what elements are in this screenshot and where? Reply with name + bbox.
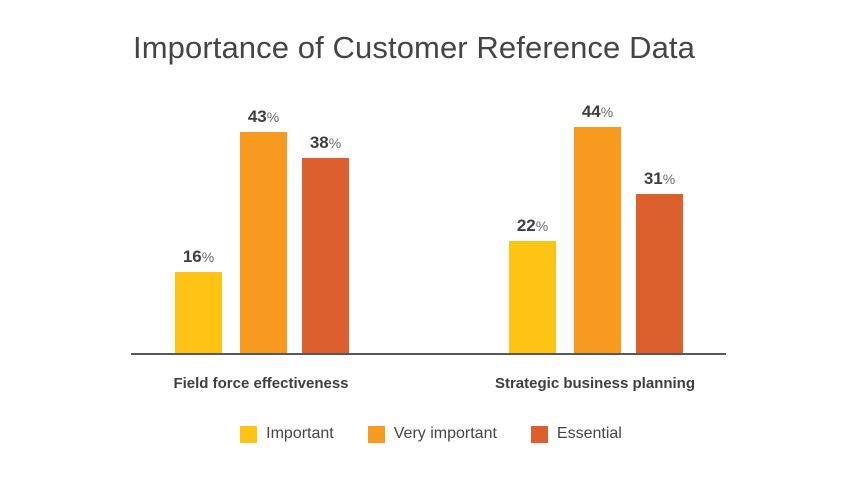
category-label-field-force-effectiveness: Field force effectiveness [131, 375, 391, 392]
legend-label: Very important [394, 425, 497, 443]
bar-very-important[interactable] [574, 127, 621, 355]
plot-area: 16% 43% 38% 22% 44% 31% [131, 90, 726, 355]
bar-very-important[interactable] [240, 132, 287, 355]
bar-value-label: 31% [644, 170, 675, 187]
legend-item-important[interactable]: Important [240, 425, 334, 443]
bar-value-number: 31 [644, 169, 663, 188]
bar-chart: Importance of Customer Reference Data 16… [0, 0, 862, 491]
bar-value-number: 16 [183, 247, 202, 266]
bar-important[interactable] [175, 272, 222, 355]
bar-value-number: 44 [582, 102, 601, 121]
bar-essential[interactable] [302, 158, 349, 355]
bar-group-field-force-effectiveness: 16% 43% 38% [175, 90, 350, 355]
bar-group-strategic-business-planning: 22% 44% 31% [509, 90, 684, 355]
category-label-strategic-business-planning: Strategic business planning [465, 375, 725, 392]
bar-value-number: 43 [248, 107, 267, 126]
legend-item-essential[interactable]: Essential [531, 425, 622, 443]
legend-label: Essential [557, 425, 622, 443]
percent-sign: % [202, 249, 214, 265]
bar-value-label: 44% [582, 103, 613, 120]
legend-item-very-important[interactable]: Very important [368, 425, 497, 443]
percent-sign: % [536, 218, 548, 234]
chart-title: Importance of Customer Reference Data [133, 30, 695, 66]
legend-label: Important [266, 425, 334, 443]
percent-sign: % [663, 171, 675, 187]
legend-swatch-icon [240, 426, 257, 443]
legend-swatch-icon [368, 426, 385, 443]
percent-sign: % [267, 109, 279, 125]
chart-legend: Important Very important Essential [0, 425, 862, 443]
bar-value-label: 16% [183, 248, 214, 265]
legend-swatch-icon [531, 426, 548, 443]
bar-value-label: 38% [310, 134, 341, 151]
x-axis-baseline [131, 353, 726, 355]
bar-value-number: 22 [517, 216, 536, 235]
percent-sign: % [601, 104, 613, 120]
bar-value-label: 22% [517, 217, 548, 234]
bar-value-label: 43% [248, 108, 279, 125]
bar-value-number: 38 [310, 133, 329, 152]
bar-important[interactable] [509, 241, 556, 355]
percent-sign: % [329, 135, 341, 151]
bar-essential[interactable] [636, 194, 683, 355]
